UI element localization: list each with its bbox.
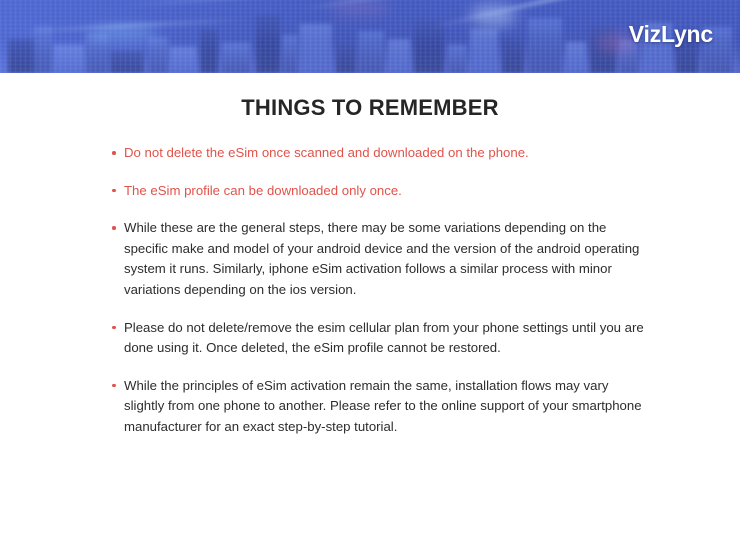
- list-item: The eSim profile can be downloaded only …: [0, 181, 740, 202]
- list-item: While these are the general steps, there…: [0, 218, 740, 300]
- vizlync-logo[interactable]: VizLync: [629, 23, 713, 46]
- header-banner: VizLync: [0, 0, 740, 73]
- list-item: While the principles of eSim activation …: [0, 376, 740, 438]
- list-item-text: The eSim profile can be downloaded only …: [124, 181, 652, 202]
- list-item-text: While the principles of eSim activation …: [124, 376, 652, 438]
- list-item-text: Do not delete the eSim once scanned and …: [124, 143, 652, 164]
- bullet-dot-icon: [112, 151, 116, 155]
- things-to-remember-list: Do not delete the eSim once scanned and …: [0, 143, 740, 438]
- bullet-dot-icon: [112, 226, 116, 230]
- list-item-text: Please do not delete/remove the esim cel…: [124, 318, 652, 359]
- list-item-text: While these are the general steps, there…: [124, 218, 652, 300]
- list-item: Please do not delete/remove the esim cel…: [0, 318, 740, 359]
- page-title: THINGS TO REMEMBER: [0, 73, 740, 121]
- list-item: Do not delete the eSim once scanned and …: [0, 143, 740, 164]
- slide-content: THINGS TO REMEMBER Do not delete the eSi…: [0, 73, 740, 555]
- bullet-dot-icon: [112, 384, 116, 388]
- bullet-dot-icon: [112, 189, 116, 193]
- bullet-dot-icon: [112, 326, 116, 330]
